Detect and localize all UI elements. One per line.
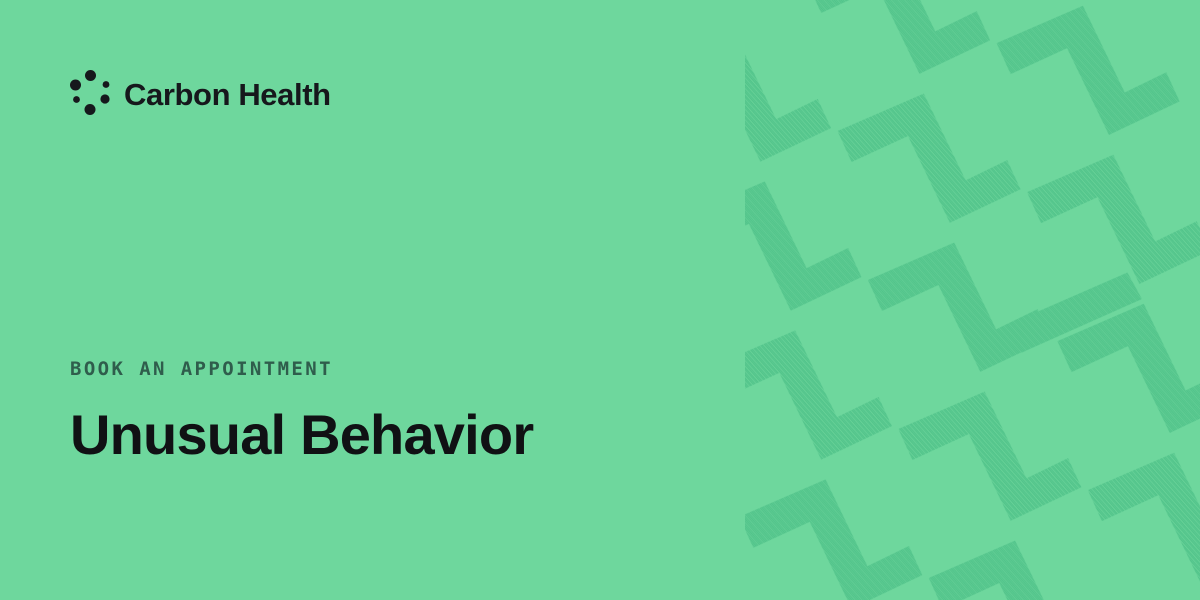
brush-stroke-pattern — [745, 0, 1200, 600]
hero-text-block: BOOK AN APPOINTMENT Unusual Behavior — [70, 358, 710, 465]
brush-stroke-pattern-svg — [745, 0, 1200, 600]
carbon-health-logo[interactable]: Carbon Health — [70, 66, 331, 122]
page-title: Unusual Behavior — [70, 381, 710, 465]
carbon-health-wordmark: Carbon Health — [124, 79, 331, 110]
appointment-hero-banner: Carbon Health BOOK AN APPOINTMENT Unusua… — [0, 0, 1200, 600]
carbon-health-dot-mark-icon — [70, 70, 114, 118]
eyebrow-label: BOOK AN APPOINTMENT — [70, 358, 710, 381]
